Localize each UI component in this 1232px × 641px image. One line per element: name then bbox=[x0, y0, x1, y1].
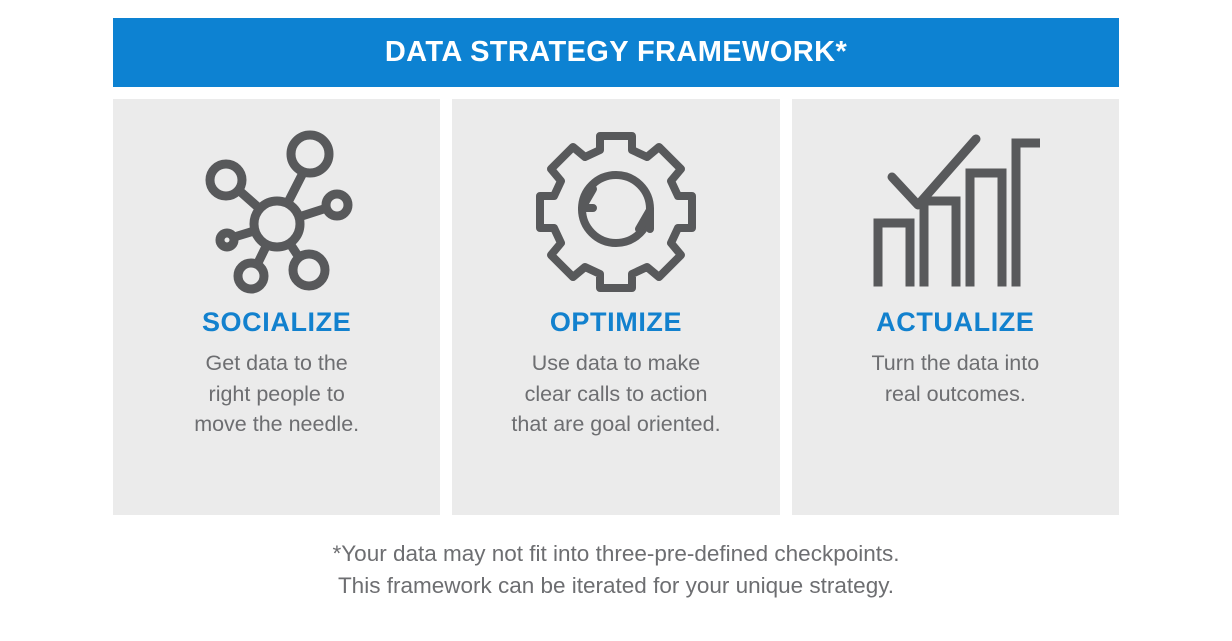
bar-chart-checkmark-icon bbox=[870, 111, 1040, 307]
footnote-line: *Your data may not fit into three-pre-de… bbox=[0, 538, 1232, 570]
panel-actualize: ACTUALIZE Turn the data into real outcom… bbox=[792, 99, 1119, 515]
panel-description-line: Use data to make bbox=[511, 348, 720, 379]
footnote-line: This framework can be iterated for your … bbox=[0, 570, 1232, 602]
panel-description-socialize: Get data to the right people to move the… bbox=[186, 348, 367, 440]
panel-description-line: real outcomes. bbox=[871, 379, 1039, 410]
panel-optimize: OPTIMIZE Use data to make clear calls to… bbox=[452, 99, 779, 515]
panel-heading-actualize: ACTUALIZE bbox=[876, 309, 1034, 336]
gear-refresh-icon bbox=[534, 111, 698, 307]
panel-description-line: right people to bbox=[194, 379, 359, 410]
page-title: DATA STRATEGY FRAMEWORK* bbox=[385, 38, 847, 67]
panel-description-actualize: Turn the data into real outcomes. bbox=[863, 348, 1047, 409]
footnote: *Your data may not fit into three-pre-de… bbox=[0, 538, 1232, 603]
panel-heading-socialize: SOCIALIZE bbox=[202, 309, 351, 336]
panel-heading-optimize: OPTIMIZE bbox=[550, 309, 682, 336]
network-hub-icon bbox=[197, 111, 357, 307]
panel-description-line: move the needle. bbox=[194, 409, 359, 440]
panels-row: SOCIALIZE Get data to the right people t… bbox=[113, 99, 1119, 515]
panel-description-line: clear calls to action bbox=[511, 379, 720, 410]
panel-description-line: Turn the data into bbox=[871, 348, 1039, 379]
panel-description-line: that are goal oriented. bbox=[511, 409, 720, 440]
panel-socialize: SOCIALIZE Get data to the right people t… bbox=[113, 99, 440, 515]
panel-description-line: Get data to the bbox=[194, 348, 359, 379]
panel-description-optimize: Use data to make clear calls to action t… bbox=[503, 348, 728, 440]
header-bar: DATA STRATEGY FRAMEWORK* bbox=[113, 18, 1119, 87]
data-strategy-framework-infographic: DATA STRATEGY FRAMEWORK* bbox=[0, 0, 1232, 641]
